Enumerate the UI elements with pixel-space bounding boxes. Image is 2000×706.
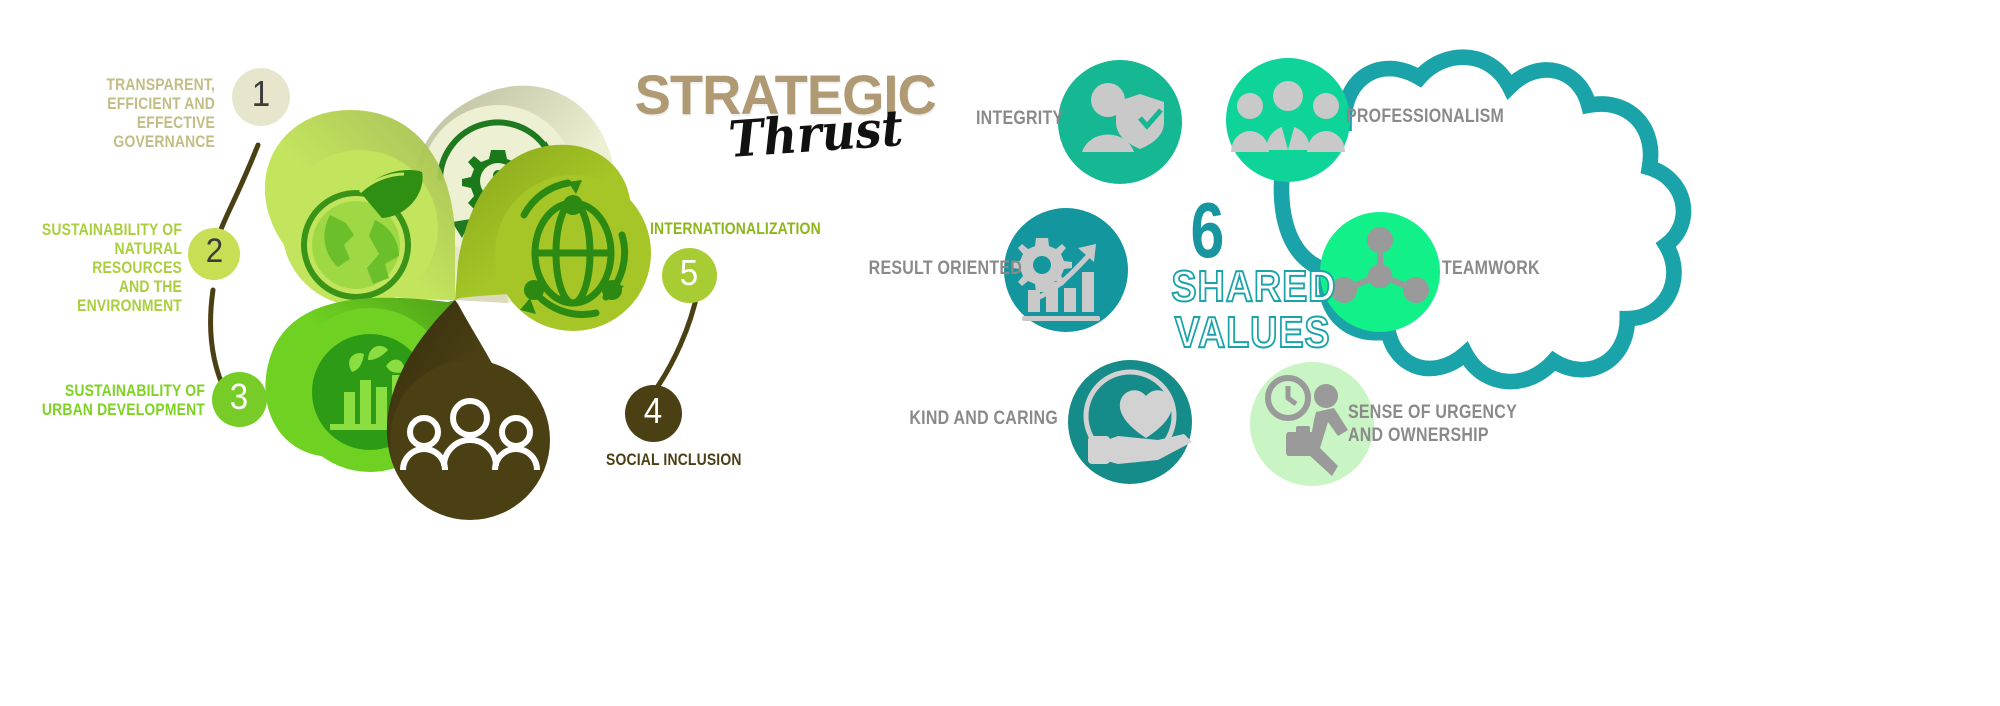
value-icon-teamwork[interactable]	[1320, 212, 1440, 332]
petal-natural-resources[interactable]	[265, 110, 455, 306]
value-label-result-oriented: RESULT ORIENTED	[862, 258, 1022, 281]
value-icon-professionalism[interactable]	[1226, 58, 1350, 182]
value-label-urgency: SENSE OF URGENCYAND OWNERSHIP	[1348, 402, 1533, 448]
strategic-label-5: INTERNATIONALIZATION	[650, 219, 855, 238]
value-icon-kind-caring[interactable]	[1068, 360, 1192, 484]
strategic-number-5[interactable]: 5	[662, 248, 717, 303]
strategic-thrust-panel: STRATEGIC Thrust TRANSPARENT, EFFICIENT …	[0, 0, 1000, 706]
strategic-number-1[interactable]: 1	[232, 68, 290, 126]
value-icon-integrity[interactable]	[1058, 60, 1182, 184]
strategic-number-4[interactable]: 4	[625, 385, 682, 442]
strategic-label-4: SOCIAL INCLUSION	[606, 450, 762, 469]
infographic-canvas: STRATEGIC Thrust TRANSPARENT, EFFICIENT …	[0, 0, 2000, 706]
strategic-number-2[interactable]: 2	[188, 228, 240, 280]
value-label-integrity: INTEGRITY	[976, 108, 1060, 131]
value-label-kind-caring: KIND AND CARING	[898, 408, 1058, 431]
strategic-label-1: TRANSPARENT, EFFICIENT ANDEFFECTIVE GOVE…	[39, 75, 215, 151]
value-icon-result-oriented[interactable]	[1004, 208, 1128, 332]
strategic-number-3[interactable]: 3	[212, 372, 267, 427]
shared-values-panel: 6 SHARED VALUES INTEGRITY PROFESSIONALIS…	[1000, 0, 2000, 706]
page-subtitle: Thrust	[727, 98, 905, 169]
strategic-label-2: SUSTAINABILITY OFNATURAL RESOURCESAND TH…	[33, 220, 182, 315]
center-line-2: VALUES	[1175, 308, 1331, 358]
strategic-label-3: SUSTAINABILITY OFURBAN DEVELOPMENT	[37, 381, 205, 419]
value-label-teamwork: TEAMWORK	[1442, 258, 1576, 281]
value-label-professionalism: PROFESSIONALISM	[1346, 106, 1531, 129]
center-line-1: SHARED	[1171, 262, 1336, 312]
